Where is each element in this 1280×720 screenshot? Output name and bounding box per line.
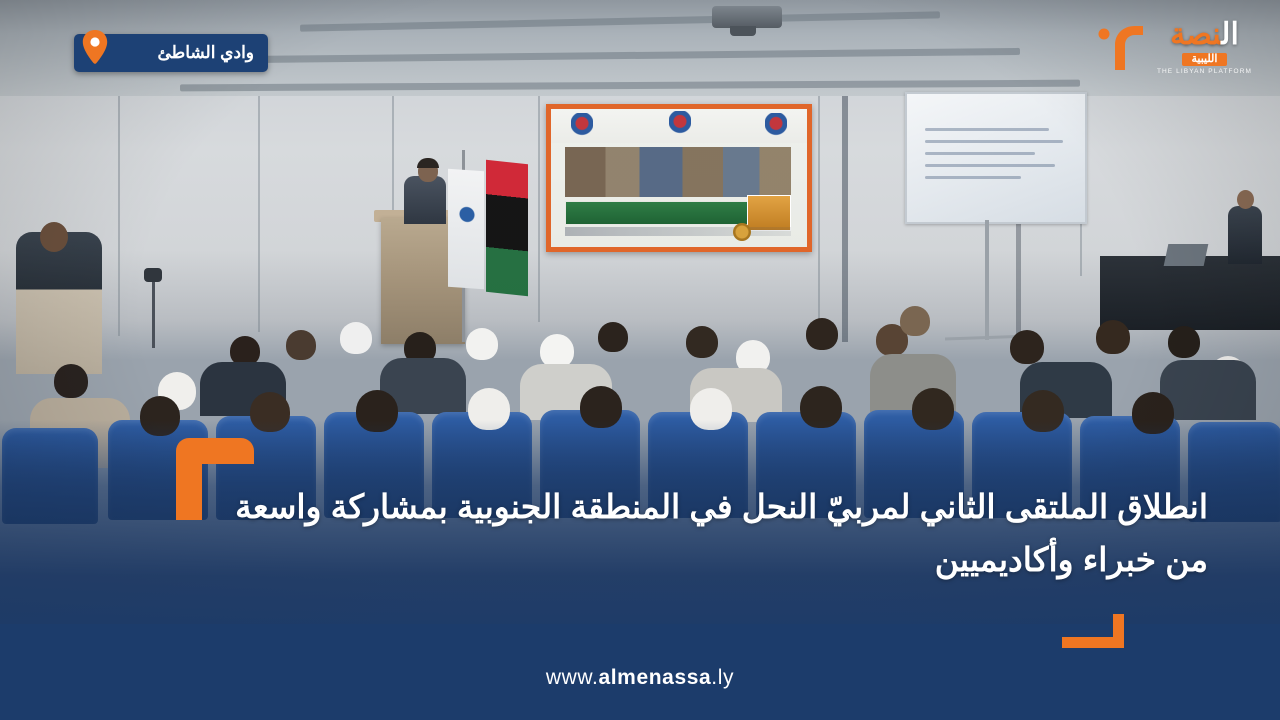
brand-text-block: النصة الليبية THE LIBYAN PLATFORM [1157, 20, 1252, 76]
brand-arabic-name: النصة [1157, 20, 1252, 50]
headline-text: انطلاق الملتقى الثاني لمربيّ النحل في ال… [188, 480, 1208, 587]
microphone [144, 268, 162, 282]
url-prefix: www. [546, 666, 599, 689]
website-url: www.almenassa.ly [0, 666, 1280, 690]
organization-flag [448, 169, 484, 290]
brand-name-prefix: ال [1221, 18, 1238, 51]
brand-name-accent: نصة [1170, 18, 1221, 51]
thumbnail-canvas: انطلاق الملتقى الثاني لمربيّ النحل في ال… [0, 0, 1280, 720]
brand-subtitle: الليبية [1182, 53, 1228, 66]
location-pin-icon [82, 30, 108, 64]
speaker-hair [417, 158, 439, 168]
laptop [1164, 244, 1209, 266]
attendee-standing-right [1228, 206, 1262, 264]
url-suffix: .ly [711, 666, 734, 689]
attendee-left-head [40, 222, 68, 252]
location-label: وادي الشاطئ [158, 43, 254, 63]
decor-bracket-bottom-right [1062, 614, 1124, 648]
libya-flag [486, 160, 528, 296]
event-banner [546, 104, 812, 252]
channel-logo: النصة الليبية THE LIBYAN PLATFORM [1085, 20, 1252, 76]
brand-mark-icon [1085, 20, 1147, 76]
speaker-body [404, 176, 446, 224]
projector [712, 6, 782, 28]
url-main: almenassa [598, 666, 711, 689]
brand-english-line: THE LIBYAN PLATFORM [1157, 69, 1252, 76]
projection-screen [905, 92, 1087, 224]
